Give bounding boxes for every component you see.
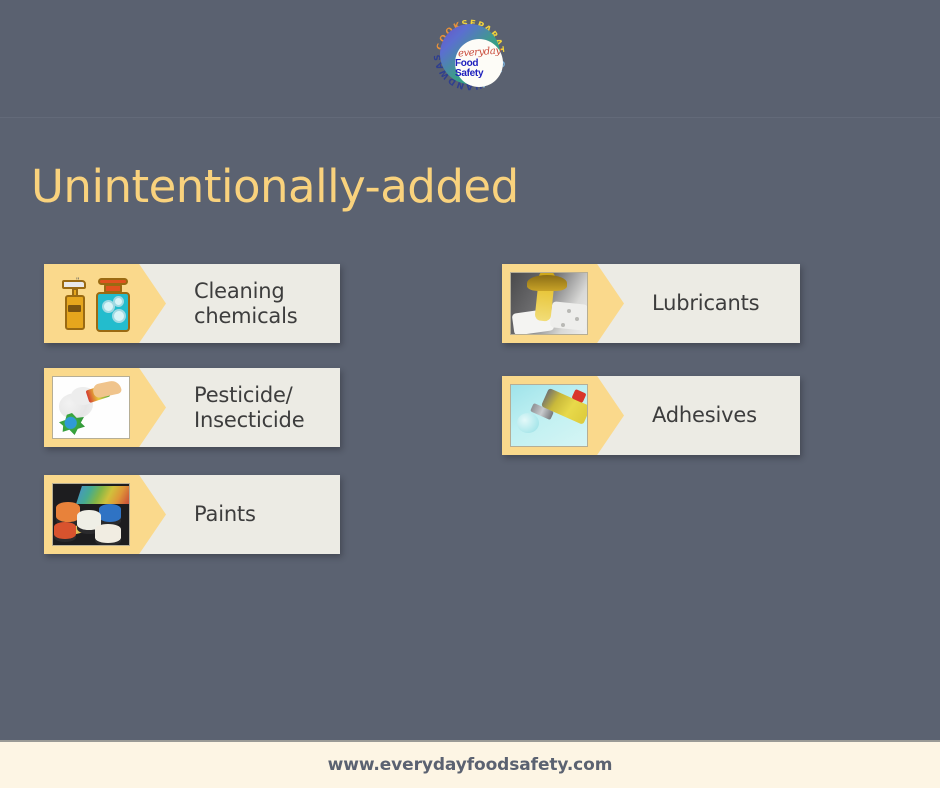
card-label: Lubricants xyxy=(624,264,800,343)
pump-bottle-icon xyxy=(96,276,130,332)
card-label-line1: Paints xyxy=(194,502,256,527)
card-arrow-accent xyxy=(502,264,624,343)
slide-canvas: COOK SEPARATE CHILL HANDWASH everyday Fo… xyxy=(0,0,940,788)
card-label-line2: Insecticide xyxy=(194,408,304,433)
card-arrow-accent xyxy=(44,368,166,447)
page-title: Unintentionally-added xyxy=(31,160,519,213)
card-pesticide-insecticide[interactable]: Pesticide/ Insecticide xyxy=(44,368,340,447)
spray-mist-icon: ''· xyxy=(76,277,88,289)
logo-gradient-ring: everyday Food Safety xyxy=(440,24,500,84)
everyday-food-safety-logo: COOK SEPARATE CHILL HANDWASH everyday Fo… xyxy=(431,15,509,93)
logo-inner-disc: everyday Food Safety xyxy=(455,39,503,87)
adhesive-glue-tube-photo xyxy=(510,384,588,447)
card-label-line1: Cleaning xyxy=(194,279,297,304)
header-band: COOK SEPARATE CHILL HANDWASH everyday Fo… xyxy=(0,0,940,118)
card-arrow-accent xyxy=(44,475,166,554)
footer-website-url[interactable]: www.everydayfoodsafety.com xyxy=(328,755,613,775)
card-label: Cleaning chemicals xyxy=(166,264,340,343)
pesticide-spray-photo xyxy=(52,376,130,439)
lubricant-oil-photo xyxy=(510,272,588,335)
card-lubricants[interactable]: Lubricants xyxy=(502,264,800,343)
logo-name-text: Food Safety xyxy=(455,59,503,79)
logo-script-text: everyday xyxy=(457,46,500,59)
card-label-line2: chemicals xyxy=(194,304,297,329)
card-label: Pesticide/ Insecticide xyxy=(166,368,340,447)
card-cleaning-chemicals[interactable]: ''· Cleaning chemicals xyxy=(44,264,340,343)
paint-cans-photo xyxy=(52,483,130,546)
card-label-line1: Lubricants xyxy=(652,291,759,316)
card-label: Adhesives xyxy=(624,376,800,455)
card-paints[interactable]: Paints xyxy=(44,475,340,554)
card-label: Paints xyxy=(166,475,340,554)
card-label-line1: Adhesives xyxy=(652,403,757,428)
cleaning-chemicals-bottles-icon: ''· xyxy=(50,272,142,336)
card-arrow-accent xyxy=(502,376,624,455)
footer-bar: www.everydayfoodsafety.com xyxy=(0,740,940,788)
card-arrow-accent: ''· xyxy=(44,264,166,343)
card-adhesives[interactable]: Adhesives xyxy=(502,376,800,455)
card-label-line1: Pesticide/ xyxy=(194,383,304,408)
